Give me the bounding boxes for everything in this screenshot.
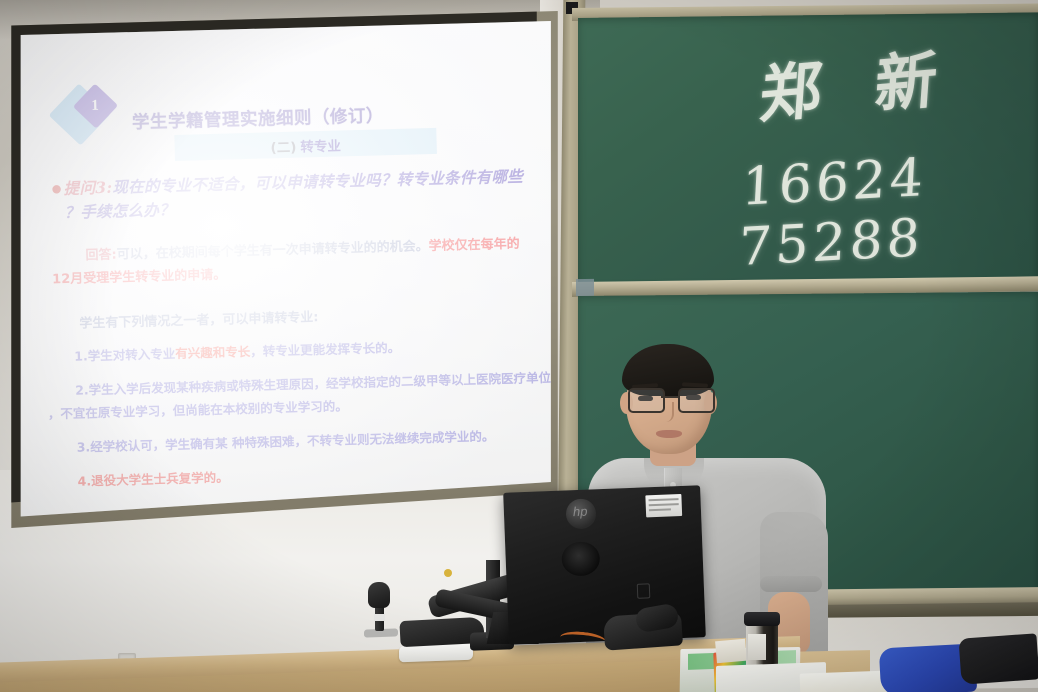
presenter-mouth [656,430,682,438]
list-item-number: 1. [74,348,88,363]
subtitle-number: (二) [270,136,296,157]
list-item-number: 2. [75,383,89,398]
list-item-text: 经学校认可，学生确有某 种特殊困难，不转专业则无法继续完成学业的。 [90,428,495,454]
list-lead-in: 学生有下列情况之一者，可以申请转专业: [53,306,319,332]
question-label: 提问3: [63,178,112,198]
monitor-port-icon [637,583,651,598]
blackboard-rail-bracket [576,279,594,296]
asset-label [645,494,682,517]
list-item-number: 3. [77,439,91,454]
monitor-arm-adjuster-icon[interactable] [444,569,452,577]
badge-number: 1 [92,98,100,113]
list-item: 3.经学校认可，学生确有某 种特殊困难，不转专业则无法继续完成学业的。 [48,425,553,459]
list-item-highlight: 有兴趣和专长 [175,344,250,361]
slide-title: 学生学籍管理实施细则（修订） [132,102,385,134]
condition-list: 1.学生对转入专业有兴趣和专长，转专业更能发挥专长的。 2.学生入学后发现某种疾… [46,334,553,507]
answer-label: 回答: [85,248,117,264]
list-item-number: 4. [77,473,91,488]
monitor-vesa-mount [561,541,600,576]
list-item-text: 退役大学生士兵复学的。 [91,470,229,489]
blackboard-upper-panel [578,12,1038,286]
question-bullet-icon: ● [52,182,62,195]
diamond-badge-icon: 1 [57,89,123,155]
glasses-bridge [661,396,678,398]
slide-content: 1 学生学籍管理实施细则（修订） (二) 转专业 ●提问3:现在的专业不适合，可… [18,19,553,519]
bottle-cap[interactable] [744,612,780,626]
presenter-nose [660,402,674,422]
answer-text: 可以，在校期间每个学生有一次申请转专业的的机会。 [117,239,429,262]
color-box-flap [715,639,747,664]
list-item: 1.学生对转入专业有兴趣和专长，转专业更能发挥专长的。 [46,334,552,368]
microphone-band [374,614,385,621]
list-item-text: 学生对转入专业 [88,346,176,363]
classroom-scene: 1 学生学籍管理实施细则（修订） (二) 转专业 ●提问3:现在的专业不适合，可… [0,0,1038,692]
hp-logo-icon [565,498,596,529]
presenter-sleeve [760,576,822,592]
projection-screen: 1 学生学籍管理实施细则（修订） (二) 转专业 ●提问3:现在的专业不适合，可… [18,19,553,519]
answer-highlight-1: 学校仅在每年的 [428,237,519,254]
question-block: ●提问3:现在的专业不适合，可以申请转专业吗？转专业条件有哪些 ？手续怎么办？ [51,164,532,225]
bottle-label [748,634,766,660]
glasses-lens [678,388,715,413]
subtitle-word: 转专业 [300,134,341,155]
answer-block: 回答:可以，在校期间每个学生有一次申请转专业的的机会。学校仅在每年的 12月受理… [51,234,546,291]
dark-cloth [958,633,1038,684]
list-item-text-tail: ，转专业更能发挥专长的。 [250,340,400,359]
gooseneck-microphone-icon[interactable] [368,582,390,608]
